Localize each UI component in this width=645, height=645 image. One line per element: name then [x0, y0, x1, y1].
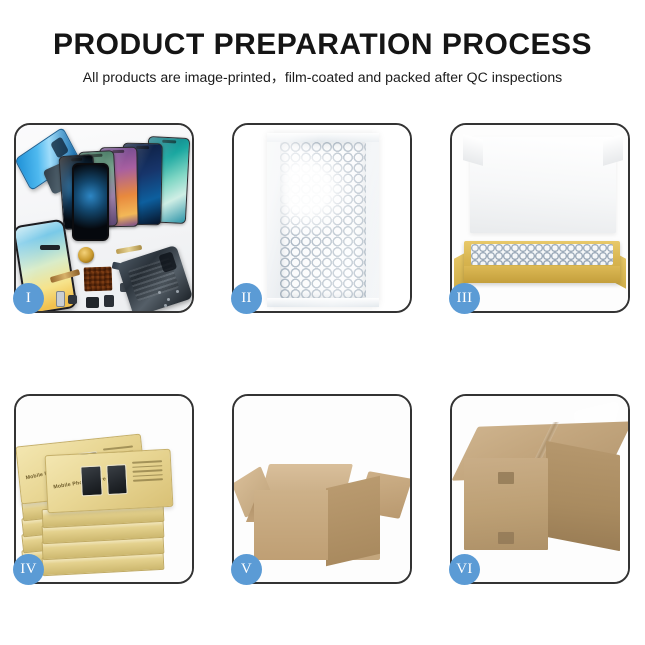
phone-parts-icon: [16, 125, 192, 311]
stacked-boxes-icon: Mobile Phone Spare Parts Mobi: [16, 396, 192, 582]
part-chip-c: [68, 295, 77, 304]
step-badge-5: V: [231, 554, 262, 585]
box-lid-screens-front: [80, 464, 128, 496]
process-steps-grid: I II: [14, 123, 631, 584]
step-badge-1: I: [13, 283, 44, 314]
page-subtitle: All products are image-printed，film-coat…: [0, 69, 645, 86]
header-block: PRODUCT PREPARATION PROCESS All products…: [0, 28, 645, 86]
carton-tab-upper: [498, 472, 514, 484]
carton-front-face: [254, 490, 328, 560]
process-step-1: I: [14, 123, 194, 313]
box-lid-front: Mobile Phone Spare Parts: [45, 449, 174, 514]
pouch-gloss: [267, 133, 379, 307]
open-inner-box-icon: [452, 125, 628, 311]
bubble-wrap-pouch: [267, 133, 379, 307]
process-step-3: III: [450, 123, 630, 313]
part-flex-cable-3: [116, 245, 142, 254]
carton-tab-lower: [498, 532, 514, 544]
tray-bubble-wrap: [471, 244, 613, 265]
part-chip-b: [104, 295, 114, 307]
part-speaker-module: [78, 247, 94, 263]
step-badge-3: III: [449, 283, 480, 314]
step-badge-2: II: [231, 283, 262, 314]
lid-flap-right: [603, 134, 623, 166]
carton-crease: [476, 554, 560, 556]
process-step-4: Mobile Phone Spare Parts Mobi: [14, 394, 194, 584]
part-chip-d: [56, 291, 65, 307]
kraft-tray: [464, 241, 620, 283]
carton-body: [254, 490, 380, 560]
step-badge-4: IV: [13, 554, 44, 585]
screen-protector: [72, 163, 109, 241]
part-copper-grid: [84, 267, 113, 292]
part-chip-a: [86, 297, 99, 308]
bubble-wrap-icon: [234, 125, 410, 311]
part-connector-bar: [40, 245, 60, 250]
sealed-carton-icon: [452, 396, 628, 582]
process-step-6: VI: [450, 394, 630, 584]
process-step-5: V: [232, 394, 412, 584]
box-lid-textlines-front: [132, 460, 163, 484]
sealed-carton-side-face: [546, 441, 620, 551]
lid-flap-left: [463, 134, 483, 166]
step-badge-6: VI: [449, 554, 480, 585]
part-screws: [158, 289, 184, 307]
page-title: PRODUCT PREPARATION PROCESS: [0, 28, 645, 62]
tray-front-face: [464, 266, 620, 283]
product-preparation-infographic: PRODUCT PREPARATION PROCESS All products…: [0, 0, 645, 645]
open-carton-icon: [234, 396, 410, 582]
carton-side-face: [326, 476, 380, 566]
process-step-2: II: [232, 123, 412, 313]
white-box-lid: [470, 137, 616, 233]
